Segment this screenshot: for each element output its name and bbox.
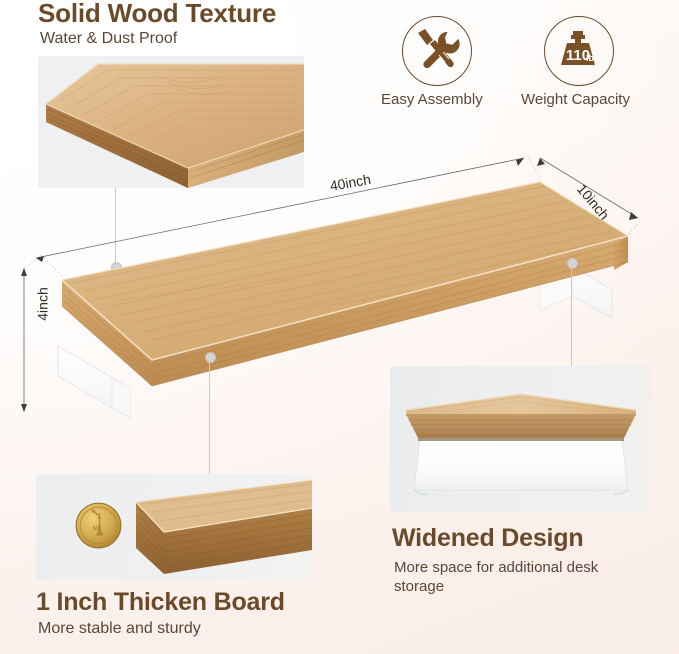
weight-capacity-label: Weight Capacity	[521, 91, 630, 108]
front-view-illustration	[390, 366, 652, 512]
easy-assembly-label: Easy Assembly	[381, 91, 483, 108]
widened-design-title: Widened Design	[392, 524, 583, 553]
dollar-coin-scale-reference: $1	[75, 502, 122, 549]
callout-dot-thickness	[205, 352, 216, 363]
easy-assembly-badge	[402, 16, 472, 86]
svg-text:$1: $1	[93, 526, 99, 532]
weight-icon: 110 lb	[545, 17, 611, 83]
callout-dot-widened	[567, 258, 578, 269]
weight-unit: lb	[586, 53, 595, 63]
thicken-board-title: 1 Inch Thicken Board	[36, 588, 285, 617]
tools-icon	[403, 17, 469, 83]
dimension-height: 4inch	[35, 287, 51, 320]
thicken-board-subtitle: More stable and sturdy	[38, 620, 201, 638]
callout-line-thickness	[209, 360, 210, 474]
widened-design-subtitle: More space for additional desk storage	[394, 558, 624, 596]
solid-wood-title: Solid Wood Texture	[38, 0, 276, 29]
infographic-canvas: Solid Wood Texture Water & Dust Proof	[0, 0, 679, 654]
weight-capacity-badge: 110 lb	[544, 16, 614, 86]
solid-wood-subtitle: Water & Dust Proof	[40, 30, 177, 48]
widened-design-panel	[390, 366, 652, 512]
callout-line-widened	[571, 266, 572, 366]
